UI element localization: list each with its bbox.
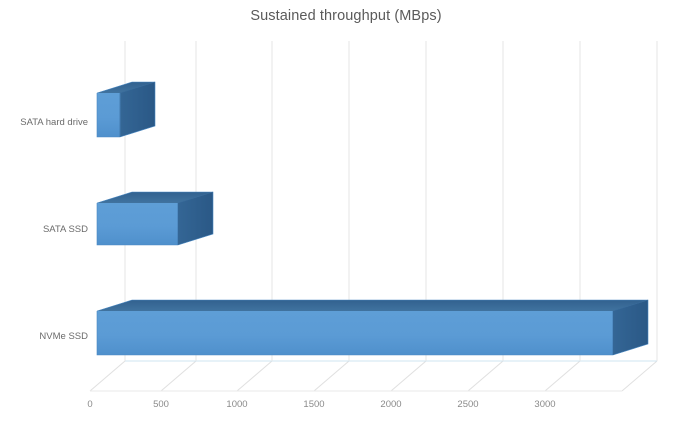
bar-sata-ssd xyxy=(97,192,213,245)
floor-perspective-lines xyxy=(90,361,657,391)
category-label-sata-ssd: SATA SSD xyxy=(0,224,88,235)
x-tick-label-0: 0 xyxy=(70,399,110,410)
x-tick-label-2500: 2500 xyxy=(448,399,488,410)
x-tick-label-2000: 2000 xyxy=(371,399,411,410)
bar-front-face xyxy=(97,311,613,355)
bar-top-face xyxy=(97,300,648,311)
x-tick-label-1500: 1500 xyxy=(294,399,334,410)
category-label-nvme-ssd: NVMe SSD xyxy=(0,331,88,342)
x-tick-label-3000: 3000 xyxy=(525,399,565,410)
category-label-sata-hard-drive: SATA hard drive xyxy=(0,117,88,128)
bar-front-face xyxy=(97,93,121,137)
chart-plot-area xyxy=(0,0,692,423)
bar-front-face xyxy=(97,203,178,245)
axis-baseline xyxy=(90,361,657,391)
bar-nvme-ssd xyxy=(97,300,648,355)
chart-container: Sustained throughput (MBps) xyxy=(0,0,692,423)
x-tick-label-500: 500 xyxy=(141,399,181,410)
bar-sata-hard-drive xyxy=(97,82,155,137)
x-tick-label-1000: 1000 xyxy=(217,399,257,410)
